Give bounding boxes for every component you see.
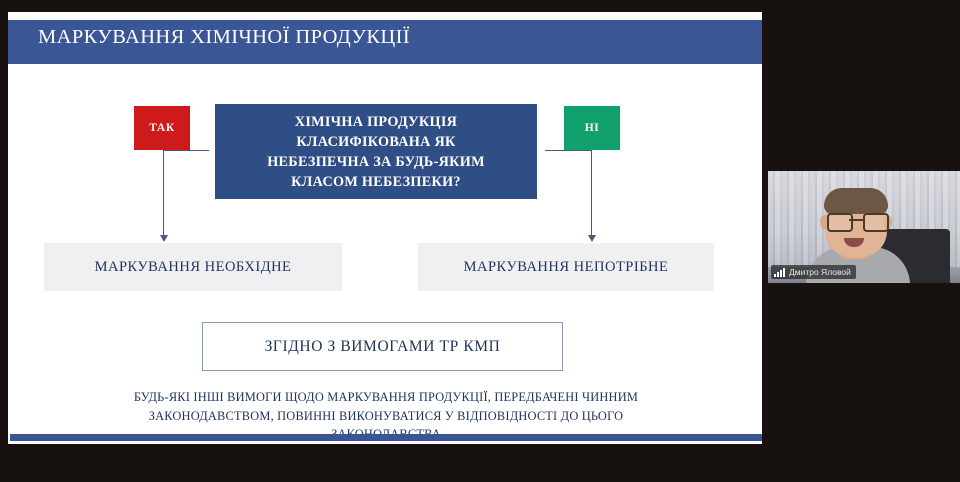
connector-no-horizontal bbox=[545, 150, 592, 151]
standard-requirements-box: ЗГІДНО З ВИМОГАМИ ТР КМП bbox=[202, 322, 563, 371]
participant-name-label: Дмитро Яловой bbox=[771, 265, 856, 279]
meeting-screen: МАРКУВАННЯ ХІМІЧНОЇ ПРОДУКЦІЇ ТАК НІ ХІМ… bbox=[0, 0, 960, 482]
outcome-box-marking-required: МАРКУВАННЯ НЕОБХІДНЕ bbox=[44, 243, 342, 291]
outcome-box-marking-not-required: МАРКУВАННЯ НЕПОТРІБНЕ bbox=[418, 243, 714, 291]
slide-title: МАРКУВАННЯ ХІМІЧНОЇ ПРОДУКЦІЇ bbox=[38, 26, 410, 49]
presentation-slide: МАРКУВАННЯ ХІМІЧНОЇ ПРОДУКЦІЇ ТАК НІ ХІМ… bbox=[8, 12, 762, 444]
outcome-not-required-text: МАРКУВАННЯ НЕПОТРІБНЕ bbox=[464, 259, 669, 276]
connector-yes-vertical bbox=[163, 150, 164, 236]
signal-strength-icon bbox=[774, 268, 785, 277]
connector-yes-horizontal bbox=[163, 150, 209, 151]
connector-no-vertical bbox=[591, 150, 592, 236]
glasses-bridge bbox=[849, 219, 863, 221]
participant-video-tile[interactable]: Дмитро Яловой bbox=[768, 171, 960, 283]
glasses-lens-left bbox=[827, 213, 853, 232]
slide-bottom-bar bbox=[10, 434, 762, 441]
arrow-yes bbox=[160, 235, 168, 242]
participant-name-text: Дмитро Яловой bbox=[789, 267, 851, 277]
slide-header-bar: МАРКУВАННЯ ХІМІЧНОЇ ПРОДУКЦІЇ bbox=[8, 20, 762, 64]
badge-yes: ТАК bbox=[134, 106, 190, 150]
question-box: ХІМІЧНА ПРОДУКЦІЯ КЛАСИФІКОВАНА ЯК НЕБЕЗ… bbox=[215, 104, 537, 199]
standard-requirements-text: ЗГІДНО З ВИМОГАМИ ТР КМП bbox=[265, 338, 501, 356]
badge-no: НІ bbox=[564, 106, 620, 150]
participant-hair bbox=[824, 188, 888, 214]
outcome-required-text: МАРКУВАННЯ НЕОБХІДНЕ bbox=[95, 259, 292, 276]
arrow-no bbox=[588, 235, 596, 242]
glasses-lens-right bbox=[863, 213, 889, 232]
question-text: ХІМІЧНА ПРОДУКЦІЯ КЛАСИФІКОВАНА ЯК НЕБЕЗ… bbox=[257, 112, 495, 192]
